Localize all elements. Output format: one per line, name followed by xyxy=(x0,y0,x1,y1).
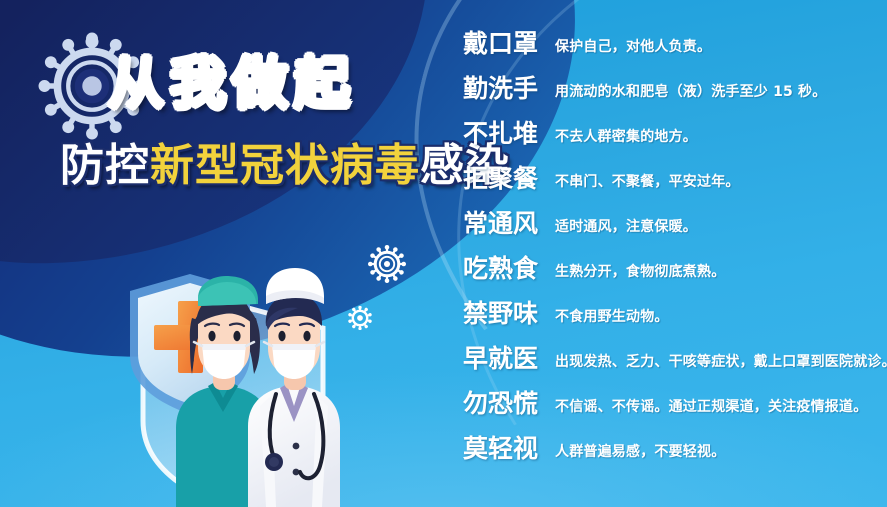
list-item: 莫轻视 人群普遍易感，不要轻视。 xyxy=(463,429,883,474)
list-item: 拒聚餐 不串门、不聚餐，平安过年。 xyxy=(463,159,883,204)
tip-description: 用流动的水和肥皂（液）洗手至少 15 秒。 xyxy=(549,81,883,101)
tip-keyword: 勤洗手 xyxy=(463,69,549,105)
subtitle-segment-highlight: 新型冠状病毒 xyxy=(150,140,420,191)
list-item: 不扎堆 不去人群密集的地方。 xyxy=(463,114,883,159)
list-item: 吃熟食 生熟分开，食物彻底煮熟。 xyxy=(463,249,883,294)
prevention-tips-list: 戴口罩 保护自己，对他人负责。 勤洗手 用流动的水和肥皂（液）洗手至少 15 秒… xyxy=(463,24,883,474)
list-item: 勿恐慌 不信谣、不传谣。通过正规渠道，关注疫情报道。 xyxy=(463,384,883,429)
tip-keyword: 常通风 xyxy=(463,204,549,240)
tip-keyword: 吃熟食 xyxy=(463,249,549,285)
list-item: 戴口罩 保护自己，对他人负责。 xyxy=(463,24,883,69)
list-item: 勤洗手 用流动的水和肥皂（液）洗手至少 15 秒。 xyxy=(463,69,883,114)
page-subtitle: 防控新型冠状病毒感染 xyxy=(60,143,460,189)
tip-description: 出现发热、乏力、干咳等症状，戴上口罩到医院就诊。 xyxy=(549,351,887,371)
tip-keyword: 莫轻视 xyxy=(463,429,549,465)
tip-description: 人群普遍易感，不要轻视。 xyxy=(549,441,883,461)
tip-description: 不串门、不聚餐，平安过年。 xyxy=(549,171,883,191)
tip-description: 不去人群密集的地方。 xyxy=(549,126,883,146)
medical-staff-illustration xyxy=(108,246,368,507)
tip-keyword: 禁野味 xyxy=(463,294,549,330)
tip-keyword: 不扎堆 xyxy=(463,114,549,150)
tip-description: 保护自己，对他人负责。 xyxy=(549,36,883,56)
tip-keyword: 早就医 xyxy=(463,339,549,375)
tip-description: 适时通风，注意保暖。 xyxy=(549,216,883,236)
page-title: 从我做起 xyxy=(60,56,460,115)
list-item: 禁野味 不食用野生动物。 xyxy=(463,294,883,339)
list-item: 早就医 出现发热、乏力、干咳等症状，戴上口罩到医院就诊。 xyxy=(463,339,883,384)
subtitle-segment-prefix: 防控 xyxy=(60,140,150,191)
poster-root: 从我做起 防控新型冠状病毒感染 xyxy=(0,0,887,507)
tip-description: 不信谣、不传谣。通过正规渠道，关注疫情报道。 xyxy=(549,396,883,416)
tip-description: 生熟分开，食物彻底煮熟。 xyxy=(549,261,883,281)
headline-block: 从我做起 防控新型冠状病毒感染 xyxy=(60,56,460,189)
tip-keyword: 拒聚餐 xyxy=(463,159,549,195)
coronavirus-icon xyxy=(368,245,406,283)
tip-keyword: 勿恐慌 xyxy=(463,384,549,420)
tip-keyword: 戴口罩 xyxy=(463,24,549,60)
list-item: 常通风 适时通风，注意保暖。 xyxy=(463,204,883,249)
tip-description: 不食用野生动物。 xyxy=(549,306,883,326)
